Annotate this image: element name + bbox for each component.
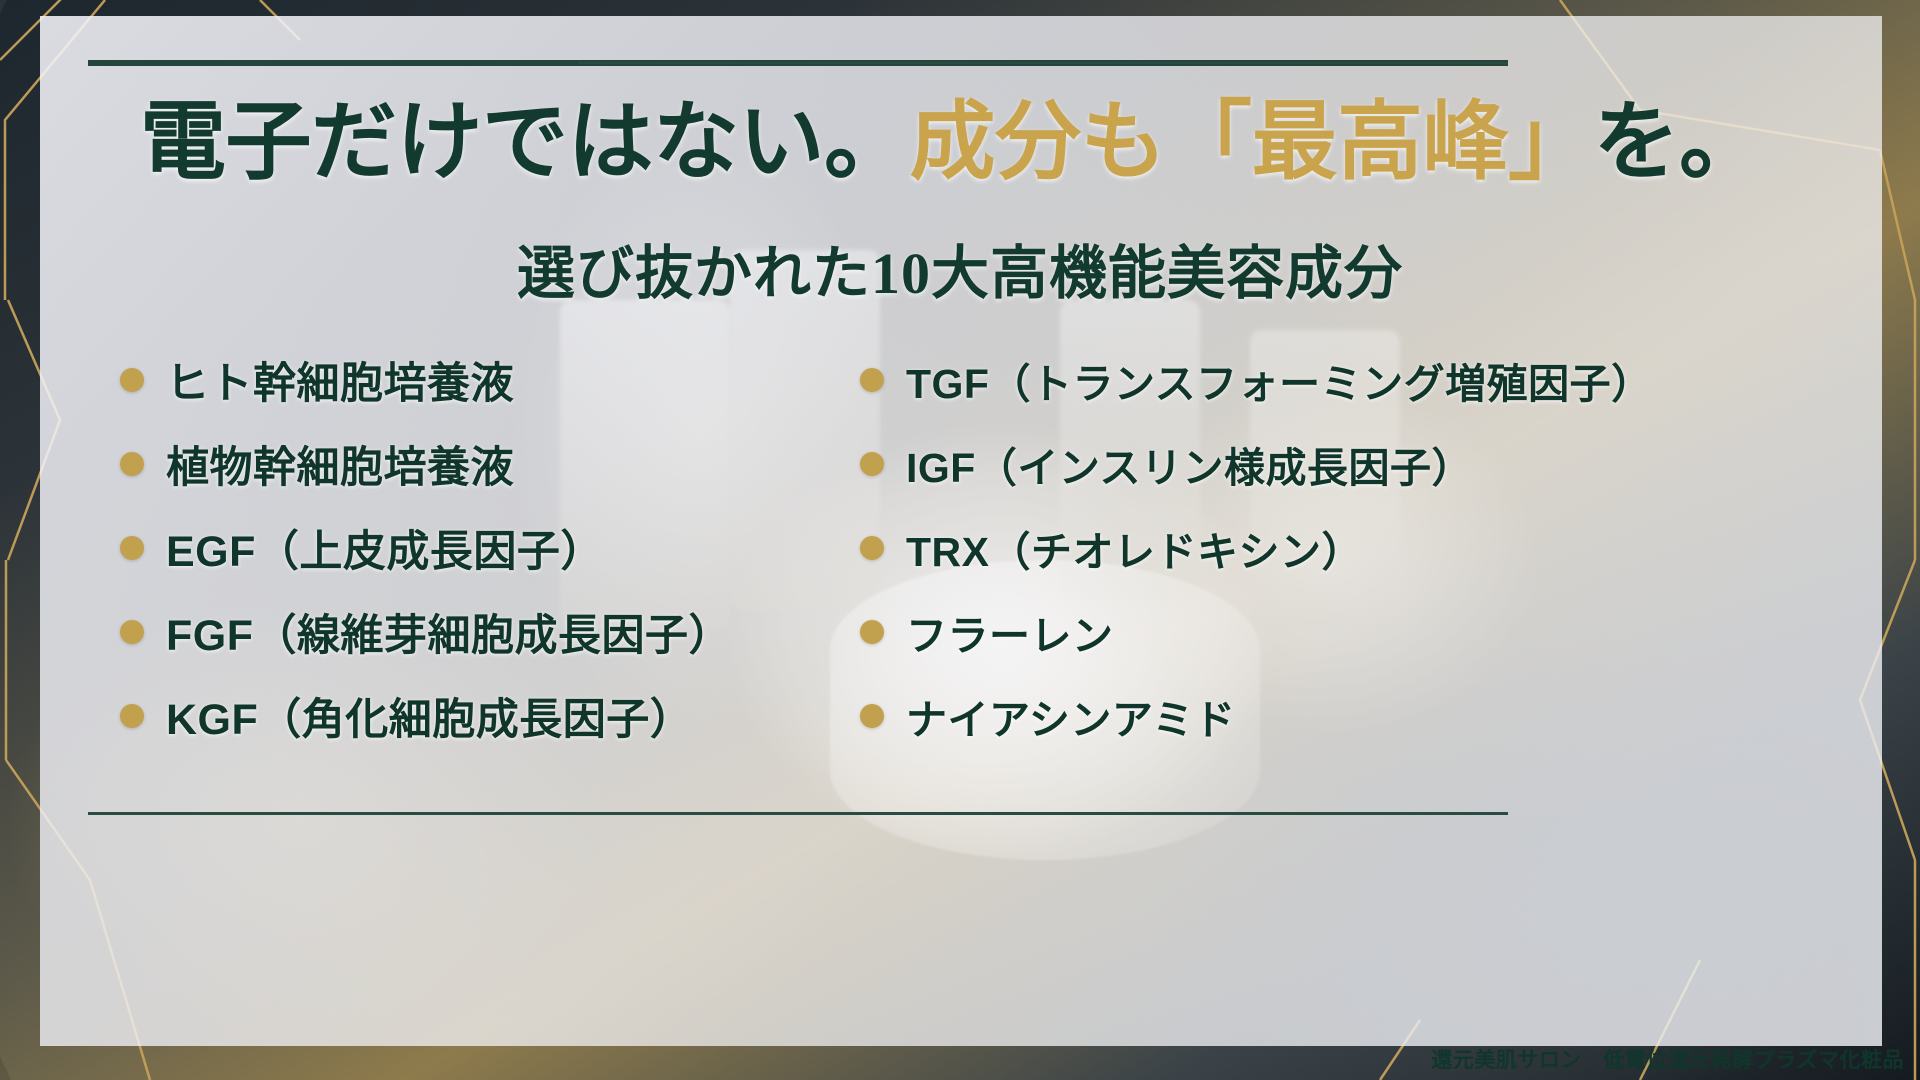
list-item: KGF（角化細胞成長因子） bbox=[120, 674, 820, 758]
bullet-dot-icon bbox=[120, 620, 144, 644]
bullet-dot-icon bbox=[860, 620, 884, 644]
ingredient-label: ヒト幹細胞培養液 bbox=[166, 349, 514, 411]
list-item: ナイアシンアミド bbox=[860, 674, 1780, 758]
ingredient-label: TRX（チオレドキシン） bbox=[906, 518, 1363, 578]
headline-part-gold: 成分も「最高峰」 bbox=[910, 94, 1594, 190]
bullet-dot-icon bbox=[860, 536, 884, 560]
bullet-dot-icon bbox=[860, 704, 884, 728]
bullet-dot-icon bbox=[860, 368, 884, 392]
footer-brand-text: 還元美肌サロン 低電位還元発酵プラズマ化粧品 bbox=[1431, 1044, 1904, 1074]
top-rule-thin bbox=[578, 62, 1508, 64]
ingredient-label: フラーレン bbox=[906, 602, 1114, 662]
list-item: TGF（トランスフォーミング増殖因子） bbox=[860, 338, 1780, 422]
headline-part-green: 電子だけではない。 bbox=[140, 94, 910, 190]
list-item: 植物幹細胞培養液 bbox=[120, 422, 820, 506]
page-subtitle: 選び抜かれた10大高機能美容成分 bbox=[0, 226, 1920, 310]
ingredient-column-right: TGF（トランスフォーミング増殖因子） IGF（インスリン様成長因子） TRX（… bbox=[860, 338, 1780, 758]
ingredient-label: ナイアシンアミド bbox=[906, 686, 1236, 746]
ingredient-columns: ヒト幹細胞培養液 植物幹細胞培養液 EGF（上皮成長因子） FGF（線維芽細胞成… bbox=[120, 338, 1820, 758]
bottom-rule bbox=[88, 812, 1508, 815]
ingredient-column-left: ヒト幹細胞培養液 植物幹細胞培養液 EGF（上皮成長因子） FGF（線維芽細胞成… bbox=[120, 338, 820, 758]
ingredient-label: IGF（インスリン様成長因子） bbox=[906, 434, 1473, 494]
ingredient-label: TGF（トランスフォーミング増殖因子） bbox=[906, 350, 1653, 410]
ingredient-label: 植物幹細胞培養液 bbox=[166, 433, 514, 495]
list-item: フラーレン bbox=[860, 590, 1780, 674]
ingredient-label: EGF（上皮成長因子） bbox=[166, 517, 604, 579]
list-item: ヒト幹細胞培養液 bbox=[120, 338, 820, 422]
headline-part-green-tail: を。 bbox=[1594, 94, 1765, 190]
list-item: TRX（チオレドキシン） bbox=[860, 506, 1780, 590]
bullet-dot-icon bbox=[120, 452, 144, 476]
bullet-dot-icon bbox=[860, 452, 884, 476]
page-title: 電子だけではない。成分も「最高峰」を。 bbox=[140, 96, 1765, 189]
list-item: IGF（インスリン様成長因子） bbox=[860, 422, 1780, 506]
bullet-dot-icon bbox=[120, 704, 144, 728]
ingredient-label: FGF（線維芽細胞成長因子） bbox=[166, 601, 732, 663]
list-item: EGF（上皮成長因子） bbox=[120, 506, 820, 590]
ingredient-label: KGF（角化細胞成長因子） bbox=[166, 685, 693, 747]
bullet-dot-icon bbox=[120, 536, 144, 560]
list-item: FGF（線維芽細胞成長因子） bbox=[120, 590, 820, 674]
slide-root: 電子だけではない。成分も「最高峰」を。 選び抜かれた10大高機能美容成分 ヒト幹… bbox=[0, 0, 1920, 1080]
bullet-dot-icon bbox=[120, 368, 144, 392]
